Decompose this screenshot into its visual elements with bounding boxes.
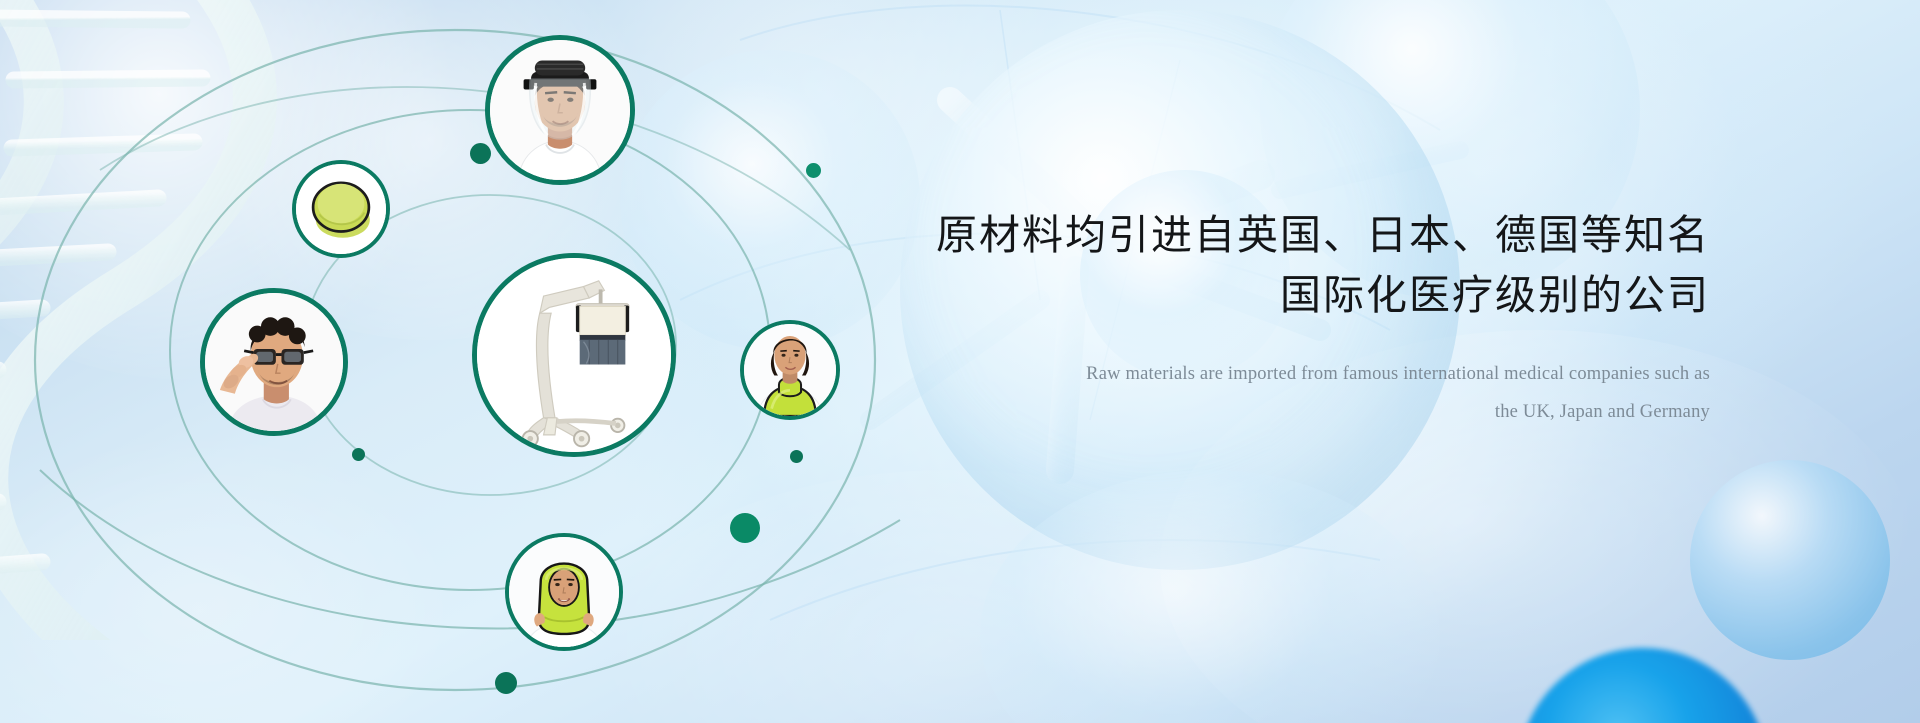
face-shield-photo bbox=[490, 40, 630, 180]
hero-text-block: 原材料均引进自英国、日本、德国等知名 国际化医疗级别的公司 Raw materi… bbox=[870, 205, 1710, 431]
orbit-node-dot bbox=[495, 672, 517, 694]
lead-cap-icon bbox=[296, 164, 386, 254]
protective-hood-photo bbox=[509, 537, 619, 647]
mobile-radiation-barrier-icon bbox=[477, 258, 671, 452]
page-headline: 原材料均引进自英国、日本、德国等知名 国际化医疗级别的公司 bbox=[870, 205, 1710, 325]
thyroid-collar-photo bbox=[744, 324, 836, 416]
bubble-mobile-barrier[interactable] bbox=[472, 253, 676, 457]
subcopy-line-1: Raw materials are imported from famous i… bbox=[870, 355, 1710, 393]
subcopy-line-2: the UK, Japan and Germany bbox=[870, 393, 1710, 431]
orbit-node-dot bbox=[730, 513, 760, 543]
page-subcopy: Raw materials are imported from famous i… bbox=[870, 355, 1710, 431]
headline-line-2: 国际化医疗级别的公司 bbox=[870, 265, 1710, 325]
headline-line-1: 原材料均引进自英国、日本、德国等知名 bbox=[936, 212, 1710, 258]
molecule-sphere-accent bbox=[1518, 648, 1768, 723]
cloud-haze bbox=[600, 470, 1300, 723]
cloud-haze bbox=[0, 430, 460, 723]
bubble-thyroid-collar[interactable] bbox=[740, 320, 840, 420]
orbit-node-dot bbox=[806, 163, 821, 178]
orbit-node-dot bbox=[352, 448, 365, 461]
orbit-node-dot bbox=[470, 143, 491, 164]
hero-banner: 原材料均引进自英国、日本、德国等知名 国际化医疗级别的公司 Raw materi… bbox=[0, 0, 1920, 723]
bubble-lead-glasses[interactable] bbox=[200, 288, 348, 436]
lead-glasses-photo bbox=[205, 293, 343, 431]
bubble-protective-hood[interactable] bbox=[505, 533, 623, 651]
molecule-sphere bbox=[1690, 460, 1890, 660]
bubble-lead-cap[interactable] bbox=[292, 160, 390, 258]
bubble-face-shield[interactable] bbox=[485, 35, 635, 185]
orbit-node-dot bbox=[790, 450, 803, 463]
molecule-sphere bbox=[980, 470, 1440, 723]
